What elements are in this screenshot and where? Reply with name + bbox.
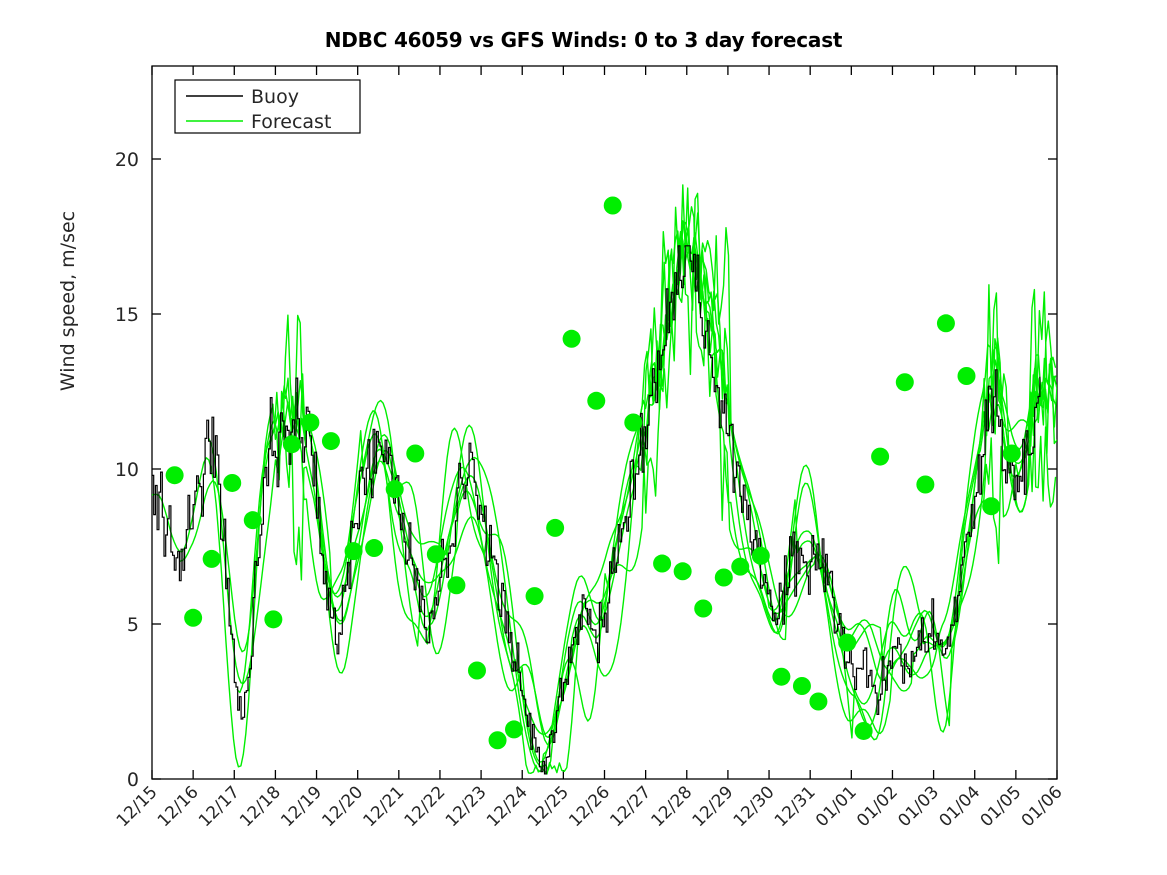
y-tick-label: 10 <box>115 459 139 481</box>
forecast-marker <box>752 547 770 565</box>
x-tick-label: 01/06 <box>1018 782 1067 831</box>
legend-label-buoy: Buoy <box>251 86 299 108</box>
forecast-marker <box>937 314 955 332</box>
y-tick-label: 0 <box>127 769 139 791</box>
forecast-marker <box>386 480 404 498</box>
forecast-marker <box>694 600 712 618</box>
forecast-marker <box>838 634 856 652</box>
x-tick-label: 12/26 <box>565 782 614 831</box>
x-tick-label: 12/29 <box>689 782 738 831</box>
y-tick-label: 5 <box>127 614 139 636</box>
x-tick-label: 12/30 <box>730 782 779 831</box>
forecast-marker <box>322 432 340 450</box>
axes-frame <box>152 66 1057 779</box>
y-tick-label: 20 <box>115 149 139 171</box>
forecast-marker <box>264 610 282 628</box>
x-tick-label: 12/20 <box>318 782 367 831</box>
y-tick-label: 15 <box>115 304 139 326</box>
x-tick-marks <box>152 66 1057 779</box>
x-tick-label: 12/18 <box>236 782 285 831</box>
forecast-marker <box>427 545 445 563</box>
forecast-marker <box>1003 445 1021 463</box>
forecast-marker <box>604 197 622 215</box>
forecast-marker <box>283 435 301 453</box>
x-tick-label: 12/31 <box>771 782 820 831</box>
forecast-marker <box>855 722 873 740</box>
forecast-marker <box>223 474 241 492</box>
forecast-marker <box>468 662 486 680</box>
forecast-marker <box>184 609 202 627</box>
forecast-marker <box>587 392 605 410</box>
x-tick-label: 01/01 <box>812 782 861 831</box>
x-tick-label: 12/24 <box>483 782 532 831</box>
forecast-marker <box>624 414 642 432</box>
x-tick-label: 12/28 <box>648 782 697 831</box>
forecast-marker <box>406 445 424 463</box>
forecast-marker <box>301 414 319 432</box>
forecast-marker <box>653 555 671 573</box>
forecast-marker <box>244 511 262 529</box>
x-tick-label: 12/16 <box>154 782 203 831</box>
forecast-marker <box>916 476 934 494</box>
forecast-marker <box>365 539 383 557</box>
forecast-marker <box>772 668 790 686</box>
legend: Buoy Forecast <box>175 80 360 133</box>
x-tick-label: 01/03 <box>894 782 943 831</box>
forecast-marker <box>731 558 749 576</box>
forecast-marker <box>203 550 221 568</box>
x-tick-label: 01/02 <box>853 782 902 831</box>
buoy-series-line <box>152 246 1040 774</box>
forecast-marker <box>505 720 523 738</box>
x-tick-label: 01/05 <box>977 782 1026 831</box>
forecast-marker <box>809 693 827 711</box>
x-tick-label: 12/17 <box>195 782 244 831</box>
x-tick-labels: 12/1512/1612/1712/1812/1912/2012/2112/22… <box>113 782 1067 831</box>
y-tick-labels: 05101520 <box>115 149 139 791</box>
forecast-marker <box>793 677 811 695</box>
forecast-marker <box>166 466 184 484</box>
chart-figure: NDBC 46059 vs GFS Winds: 0 to 3 day fore… <box>0 0 1167 875</box>
x-tick-label: 01/04 <box>935 782 984 831</box>
x-tick-label: 12/27 <box>606 782 655 831</box>
x-tick-label: 12/25 <box>524 782 573 831</box>
forecast-marker <box>489 731 507 749</box>
forecast-marker <box>715 569 733 587</box>
forecast-marker <box>546 519 564 537</box>
forecast-marker <box>345 542 363 560</box>
forecast-marker <box>447 576 465 594</box>
forecast-marker <box>958 367 976 385</box>
legend-label-forecast: Forecast <box>251 111 331 133</box>
forecast-marker <box>563 330 581 348</box>
x-tick-label: 12/22 <box>401 782 450 831</box>
forecast-marker <box>896 373 914 391</box>
x-tick-label: 12/23 <box>442 782 491 831</box>
forecast-marker <box>674 562 692 580</box>
plot-area: 05101520 12/1512/1612/1712/1812/1912/201… <box>0 0 1167 875</box>
forecast-marker <box>871 448 889 466</box>
forecast-marker <box>526 587 544 605</box>
x-tick-label: 12/19 <box>277 782 326 831</box>
x-tick-label: 12/21 <box>360 782 409 831</box>
forecast-marker <box>982 497 1000 515</box>
